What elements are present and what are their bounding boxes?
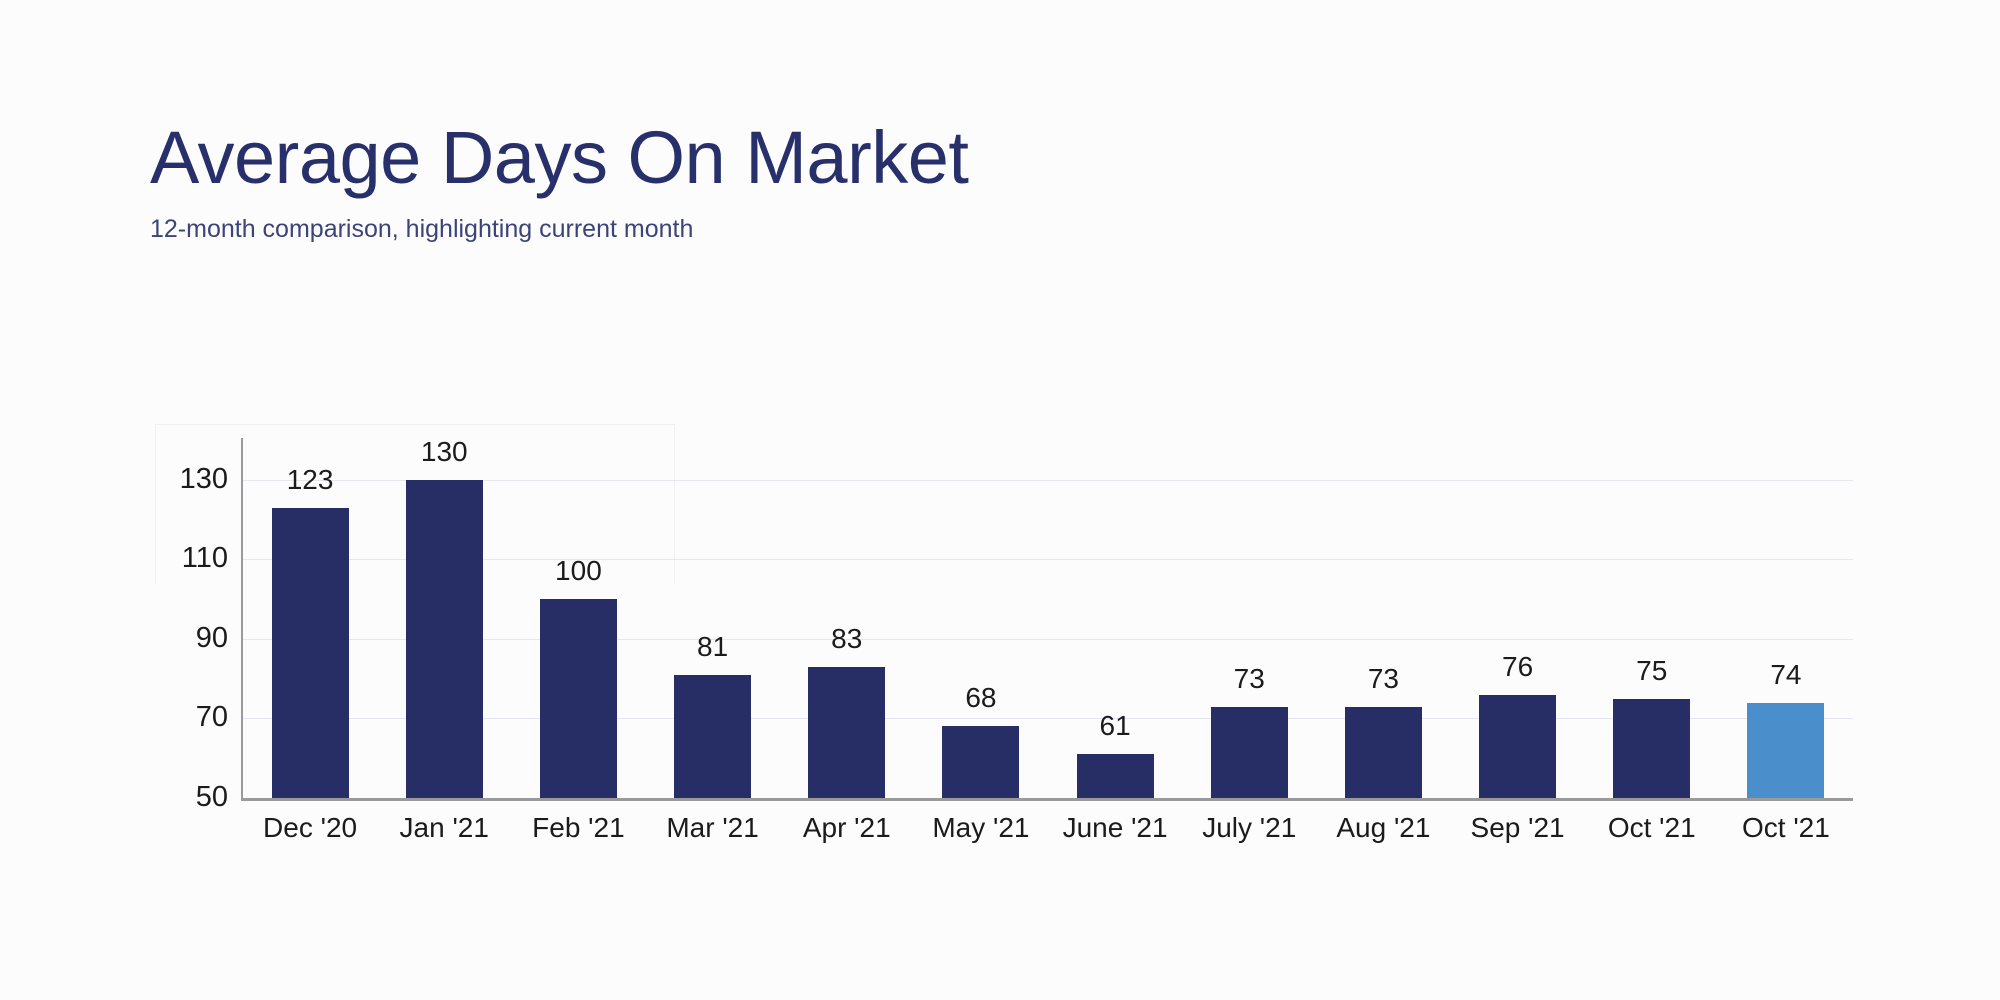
x-axis-tick-label: Oct '21 — [1701, 812, 1871, 844]
bar-value-label: 73 — [1189, 665, 1309, 693]
bar-value-label: 100 — [518, 557, 638, 585]
bar-value-label: 68 — [921, 684, 1041, 712]
bar-highlighted[interactable] — [1747, 703, 1824, 798]
bar-value-label: 76 — [1458, 653, 1578, 681]
chart-plot-area: 507090110130 123130100818368617373767574… — [0, 0, 2000, 1000]
bar[interactable] — [1211, 707, 1288, 798]
bar[interactable] — [272, 508, 349, 798]
bar[interactable] — [1613, 699, 1690, 798]
bar[interactable] — [406, 480, 483, 798]
chart-page: Average Days On Market 12-month comparis… — [0, 0, 2000, 1000]
bar[interactable] — [1479, 695, 1556, 798]
bar[interactable] — [540, 599, 617, 798]
bar[interactable] — [942, 726, 1019, 798]
bar-value-label: 73 — [1323, 665, 1443, 693]
bar[interactable] — [1077, 754, 1154, 798]
bar-value-label: 83 — [787, 625, 907, 653]
bar-value-label: 123 — [250, 466, 370, 494]
bar-value-label: 75 — [1592, 657, 1712, 685]
bar[interactable] — [674, 675, 751, 798]
bar[interactable] — [1345, 707, 1422, 798]
bars-group: 123130100818368617373767574 — [0, 0, 2000, 800]
bar[interactable] — [808, 667, 885, 798]
bar-value-label: 81 — [653, 633, 773, 661]
bar-value-label: 61 — [1055, 712, 1175, 740]
bar-value-label: 130 — [384, 438, 504, 466]
bar-value-label: 74 — [1726, 661, 1846, 689]
